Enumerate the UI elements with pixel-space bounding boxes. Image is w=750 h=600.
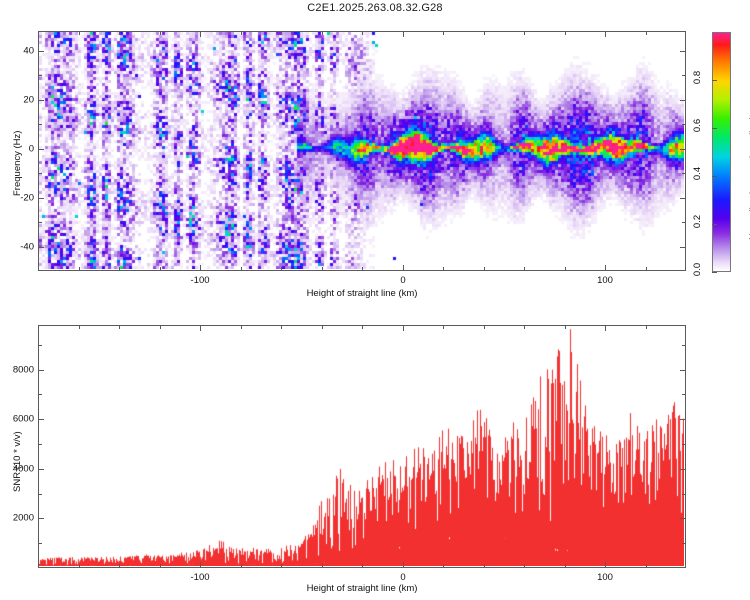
x-tick-label: 0 bbox=[400, 572, 405, 583]
x-tick-top bbox=[322, 325, 323, 329]
x-tick-label: 100 bbox=[597, 275, 613, 286]
y-tick-right bbox=[682, 394, 686, 395]
x-tick-label: 0 bbox=[400, 275, 405, 286]
x-tick-label: -100 bbox=[190, 275, 209, 286]
x-tick-top bbox=[565, 31, 566, 35]
x-tick bbox=[79, 267, 80, 271]
y-tick bbox=[38, 543, 42, 544]
x-tick bbox=[160, 564, 161, 568]
y-tick-label: 40 bbox=[2, 46, 34, 57]
x-tick-top bbox=[200, 325, 201, 331]
x-tick-top bbox=[281, 325, 282, 329]
x-tick bbox=[484, 267, 485, 271]
y-tick-right bbox=[682, 75, 686, 76]
snr-trace bbox=[39, 326, 684, 566]
y-tick-label: -40 bbox=[2, 242, 34, 253]
x-tick bbox=[443, 564, 444, 568]
y-tick-right bbox=[682, 222, 686, 223]
x-tick bbox=[200, 562, 201, 568]
x-tick-top bbox=[484, 31, 485, 35]
x-tick bbox=[524, 267, 525, 271]
colorbar bbox=[712, 32, 731, 272]
x-tick bbox=[403, 265, 404, 271]
y-tick-right bbox=[680, 198, 686, 199]
x-tick-top bbox=[362, 325, 363, 329]
x-tick-top bbox=[241, 325, 242, 329]
y-tick-right bbox=[680, 149, 686, 150]
y-tick bbox=[38, 494, 42, 495]
x-tick-top bbox=[119, 325, 120, 329]
y-tick bbox=[38, 75, 42, 76]
y-tick bbox=[38, 149, 44, 150]
y-tick bbox=[38, 518, 44, 519]
snr-panel bbox=[38, 325, 686, 568]
x-tick bbox=[160, 267, 161, 271]
y-tick-right bbox=[680, 419, 686, 420]
colorbar-tick-label: 0.6 bbox=[688, 120, 708, 131]
x-tick-top bbox=[605, 325, 606, 331]
x-tick bbox=[565, 267, 566, 271]
x-tick bbox=[646, 267, 647, 271]
y-tick-right bbox=[680, 51, 686, 52]
colorbar-tick bbox=[712, 176, 717, 177]
x-tick bbox=[524, 564, 525, 568]
x-tick-top bbox=[160, 31, 161, 35]
y-tick bbox=[38, 198, 44, 199]
spectrogram-x-axis-label: Height of straight line (km) bbox=[307, 288, 418, 299]
y-tick-right bbox=[680, 469, 686, 470]
y-tick-right bbox=[680, 518, 686, 519]
colorbar-tick bbox=[712, 224, 717, 225]
y-tick bbox=[38, 124, 42, 125]
colorbar-tick-label: 0.0 bbox=[688, 264, 708, 275]
y-tick-label: 8000 bbox=[2, 365, 34, 376]
y-tick-right bbox=[680, 100, 686, 101]
x-tick-top bbox=[79, 31, 80, 35]
y-tick-right bbox=[680, 247, 686, 248]
x-tick-top bbox=[79, 325, 80, 329]
x-tick-top bbox=[565, 325, 566, 329]
snr-x-axis-label: Height of straight line (km) bbox=[307, 583, 418, 594]
y-tick bbox=[38, 469, 44, 470]
y-tick bbox=[38, 222, 42, 223]
x-tick bbox=[119, 564, 120, 568]
y-tick-right bbox=[682, 494, 686, 495]
spectrogram-image bbox=[39, 32, 684, 269]
y-tick bbox=[38, 370, 44, 371]
x-tick bbox=[362, 564, 363, 568]
x-tick-top bbox=[200, 31, 201, 37]
y-tick bbox=[38, 394, 42, 395]
y-tick-right bbox=[682, 543, 686, 544]
y-tick bbox=[38, 51, 44, 52]
colorbar-tick-label: 0.4 bbox=[688, 168, 708, 179]
y-tick-right bbox=[682, 124, 686, 125]
x-tick bbox=[605, 562, 606, 568]
x-tick bbox=[241, 564, 242, 568]
colorbar-tick bbox=[712, 272, 717, 273]
x-tick bbox=[281, 564, 282, 568]
colorbar-tick-label: 0.8 bbox=[688, 72, 708, 83]
y-tick-label: 2000 bbox=[2, 513, 34, 524]
spectrogram-panel bbox=[38, 31, 686, 271]
x-tick-top bbox=[524, 325, 525, 329]
x-tick-top bbox=[443, 325, 444, 329]
x-tick bbox=[322, 564, 323, 568]
x-tick bbox=[484, 564, 485, 568]
x-tick bbox=[241, 267, 242, 271]
x-tick-top bbox=[241, 31, 242, 35]
x-tick bbox=[403, 562, 404, 568]
y-tick-right bbox=[680, 370, 686, 371]
figure-title: C2E1.2025.263.08.32.G28 bbox=[0, 2, 750, 14]
x-tick-top bbox=[443, 31, 444, 35]
colorbar-tick-label: 0.2 bbox=[688, 216, 708, 227]
x-tick-top bbox=[362, 31, 363, 35]
x-tick-top bbox=[524, 31, 525, 35]
y-tick bbox=[38, 247, 44, 248]
x-tick bbox=[605, 265, 606, 271]
y-tick bbox=[38, 444, 42, 445]
x-tick-top bbox=[605, 31, 606, 37]
y-tick bbox=[38, 100, 44, 101]
x-tick bbox=[79, 564, 80, 568]
x-tick bbox=[281, 267, 282, 271]
y-tick bbox=[38, 345, 42, 346]
x-tick-top bbox=[322, 31, 323, 35]
colorbar-tick bbox=[712, 80, 717, 81]
x-tick bbox=[362, 267, 363, 271]
y-tick bbox=[38, 419, 44, 420]
y-tick-right bbox=[682, 345, 686, 346]
x-tick-top bbox=[403, 31, 404, 37]
colorbar-tick bbox=[712, 128, 717, 129]
snr-y-axis-label: SNR (10 * v/v) bbox=[12, 431, 23, 492]
x-tick-top bbox=[484, 325, 485, 329]
x-tick-top bbox=[403, 325, 404, 331]
spectrogram-y-axis-label: Frequency (Hz) bbox=[12, 131, 23, 196]
x-tick bbox=[119, 267, 120, 271]
y-tick-right bbox=[682, 173, 686, 174]
y-tick bbox=[38, 173, 42, 174]
y-tick-right bbox=[682, 444, 686, 445]
x-tick-top bbox=[646, 31, 647, 35]
x-tick-label: 100 bbox=[597, 572, 613, 583]
x-tick-top bbox=[646, 325, 647, 329]
x-tick bbox=[565, 564, 566, 568]
figure-root: C2E1.2025.263.08.32.G28 -1000100-40-2002… bbox=[0, 0, 750, 600]
x-tick bbox=[322, 267, 323, 271]
y-tick-label: 6000 bbox=[2, 414, 34, 425]
x-tick bbox=[443, 267, 444, 271]
x-tick-top bbox=[281, 31, 282, 35]
x-tick-label: -100 bbox=[190, 572, 209, 583]
x-tick bbox=[200, 265, 201, 271]
y-tick-label: 20 bbox=[2, 95, 34, 106]
x-tick bbox=[646, 564, 647, 568]
x-tick-top bbox=[160, 325, 161, 329]
x-tick-top bbox=[119, 31, 120, 35]
